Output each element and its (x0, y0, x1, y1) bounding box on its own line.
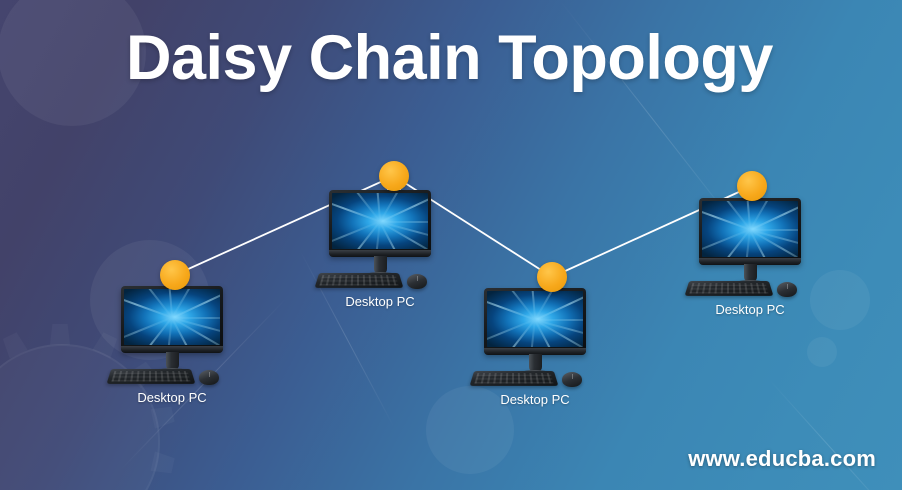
monitor-icon (699, 198, 801, 264)
mouse-icon (199, 370, 219, 385)
pc-label: Desktop PC (345, 294, 414, 309)
monitor-screen (124, 289, 220, 345)
keyboard-icon (107, 369, 196, 384)
keyboard-keys (474, 373, 553, 383)
pc-label: Desktop PC (715, 302, 784, 317)
monitor-screen (487, 291, 583, 347)
monitor-screen (332, 193, 428, 249)
pc-label: Desktop PC (500, 392, 569, 407)
monitor-icon (329, 190, 431, 256)
pc-label: Desktop PC (137, 390, 206, 405)
keyboard-icon (470, 371, 559, 386)
desktop-pc-icon: Desktop PC (476, 288, 594, 394)
page-title: Daisy Chain Topology (126, 22, 773, 94)
computer-station[interactable]: Desktop PC (113, 286, 231, 392)
computer-station[interactable]: Desktop PC (691, 198, 809, 304)
mouse-icon (562, 372, 582, 387)
computer-station[interactable]: Desktop PC (321, 190, 439, 296)
desktop-pc-icon: Desktop PC (321, 190, 439, 296)
monitor-icon (121, 286, 223, 352)
keyboard-icon (685, 281, 774, 296)
watermark: www.educba.com (688, 446, 876, 472)
diagram-canvas: Desktop PCDesktop PCDesktop PCDesktop PC… (0, 0, 902, 490)
network-node[interactable] (379, 161, 409, 191)
monitor-screen (702, 201, 798, 257)
desktop-pc-icon: Desktop PC (113, 286, 231, 392)
network-node[interactable] (537, 262, 567, 292)
keyboard-keys (111, 371, 190, 381)
keyboard-icon (315, 273, 404, 288)
network-node[interactable] (160, 260, 190, 290)
mouse-icon (407, 274, 427, 289)
keyboard-keys (689, 283, 768, 293)
mouse-icon (777, 282, 797, 297)
monitor-icon (484, 288, 586, 354)
keyboard-keys (319, 275, 398, 285)
desktop-pc-icon: Desktop PC (691, 198, 809, 304)
computer-station[interactable]: Desktop PC (476, 288, 594, 394)
network-node[interactable] (737, 171, 767, 201)
